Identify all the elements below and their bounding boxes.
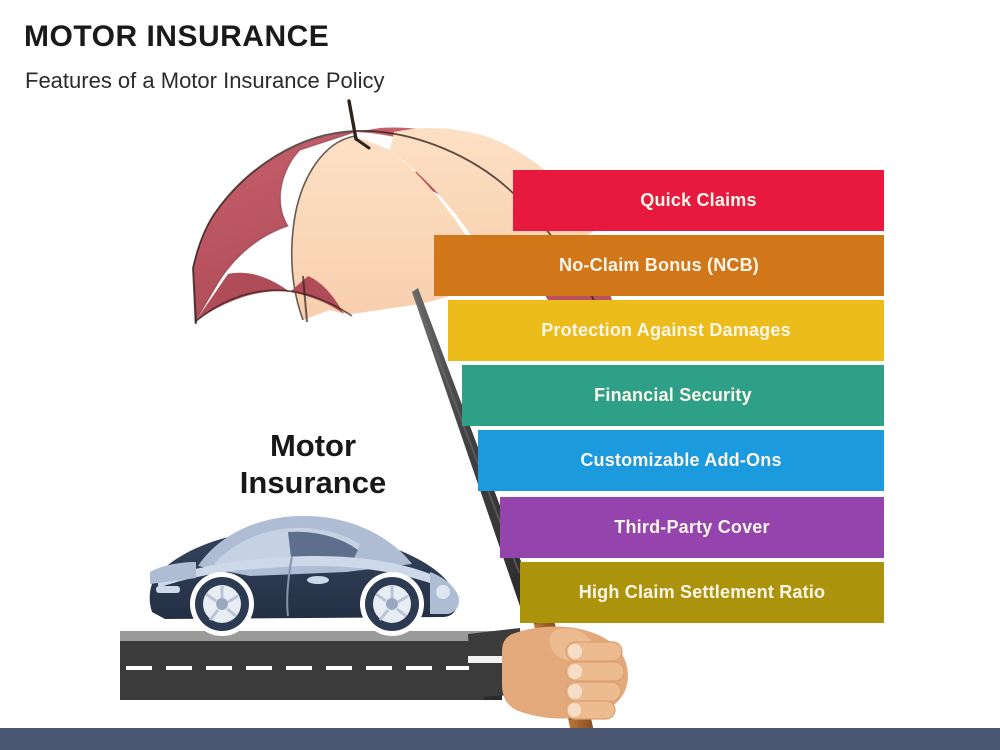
car-illustration xyxy=(143,516,469,636)
infographic-slide: MOTOR INSURANCE Features of a Motor Insu… xyxy=(0,0,1000,750)
feature-bar-label: No-Claim Bonus (NCB) xyxy=(559,255,759,276)
feature-bar-label: Customizable Add-Ons xyxy=(580,450,781,471)
feature-bar-label: Protection Against Damages xyxy=(541,320,791,341)
feature-bar[interactable]: High Claim Settlement Ratio xyxy=(520,562,884,623)
feature-bar[interactable]: Third-Party Cover xyxy=(500,497,884,558)
road-illustration xyxy=(120,631,502,700)
feature-bar[interactable]: Customizable Add-Ons xyxy=(478,430,884,491)
feature-bar[interactable]: Protection Against Damages xyxy=(448,300,884,361)
bottom-frame-bar xyxy=(0,728,1000,750)
feature-bar[interactable]: Financial Security xyxy=(462,365,884,426)
center-caption-line2: Insurance xyxy=(222,465,404,502)
center-caption: Motor Insurance xyxy=(222,428,404,501)
feature-bar-label: High Claim Settlement Ratio xyxy=(579,582,825,603)
feature-bar[interactable]: Quick Claims xyxy=(513,170,884,231)
feature-bar-label: Quick Claims xyxy=(640,190,756,211)
feature-bar-label: Third-Party Cover xyxy=(614,517,769,538)
feature-bar[interactable]: No-Claim Bonus (NCB) xyxy=(434,235,884,296)
center-caption-line1: Motor xyxy=(222,428,404,465)
feature-bar-label: Financial Security xyxy=(594,385,752,406)
